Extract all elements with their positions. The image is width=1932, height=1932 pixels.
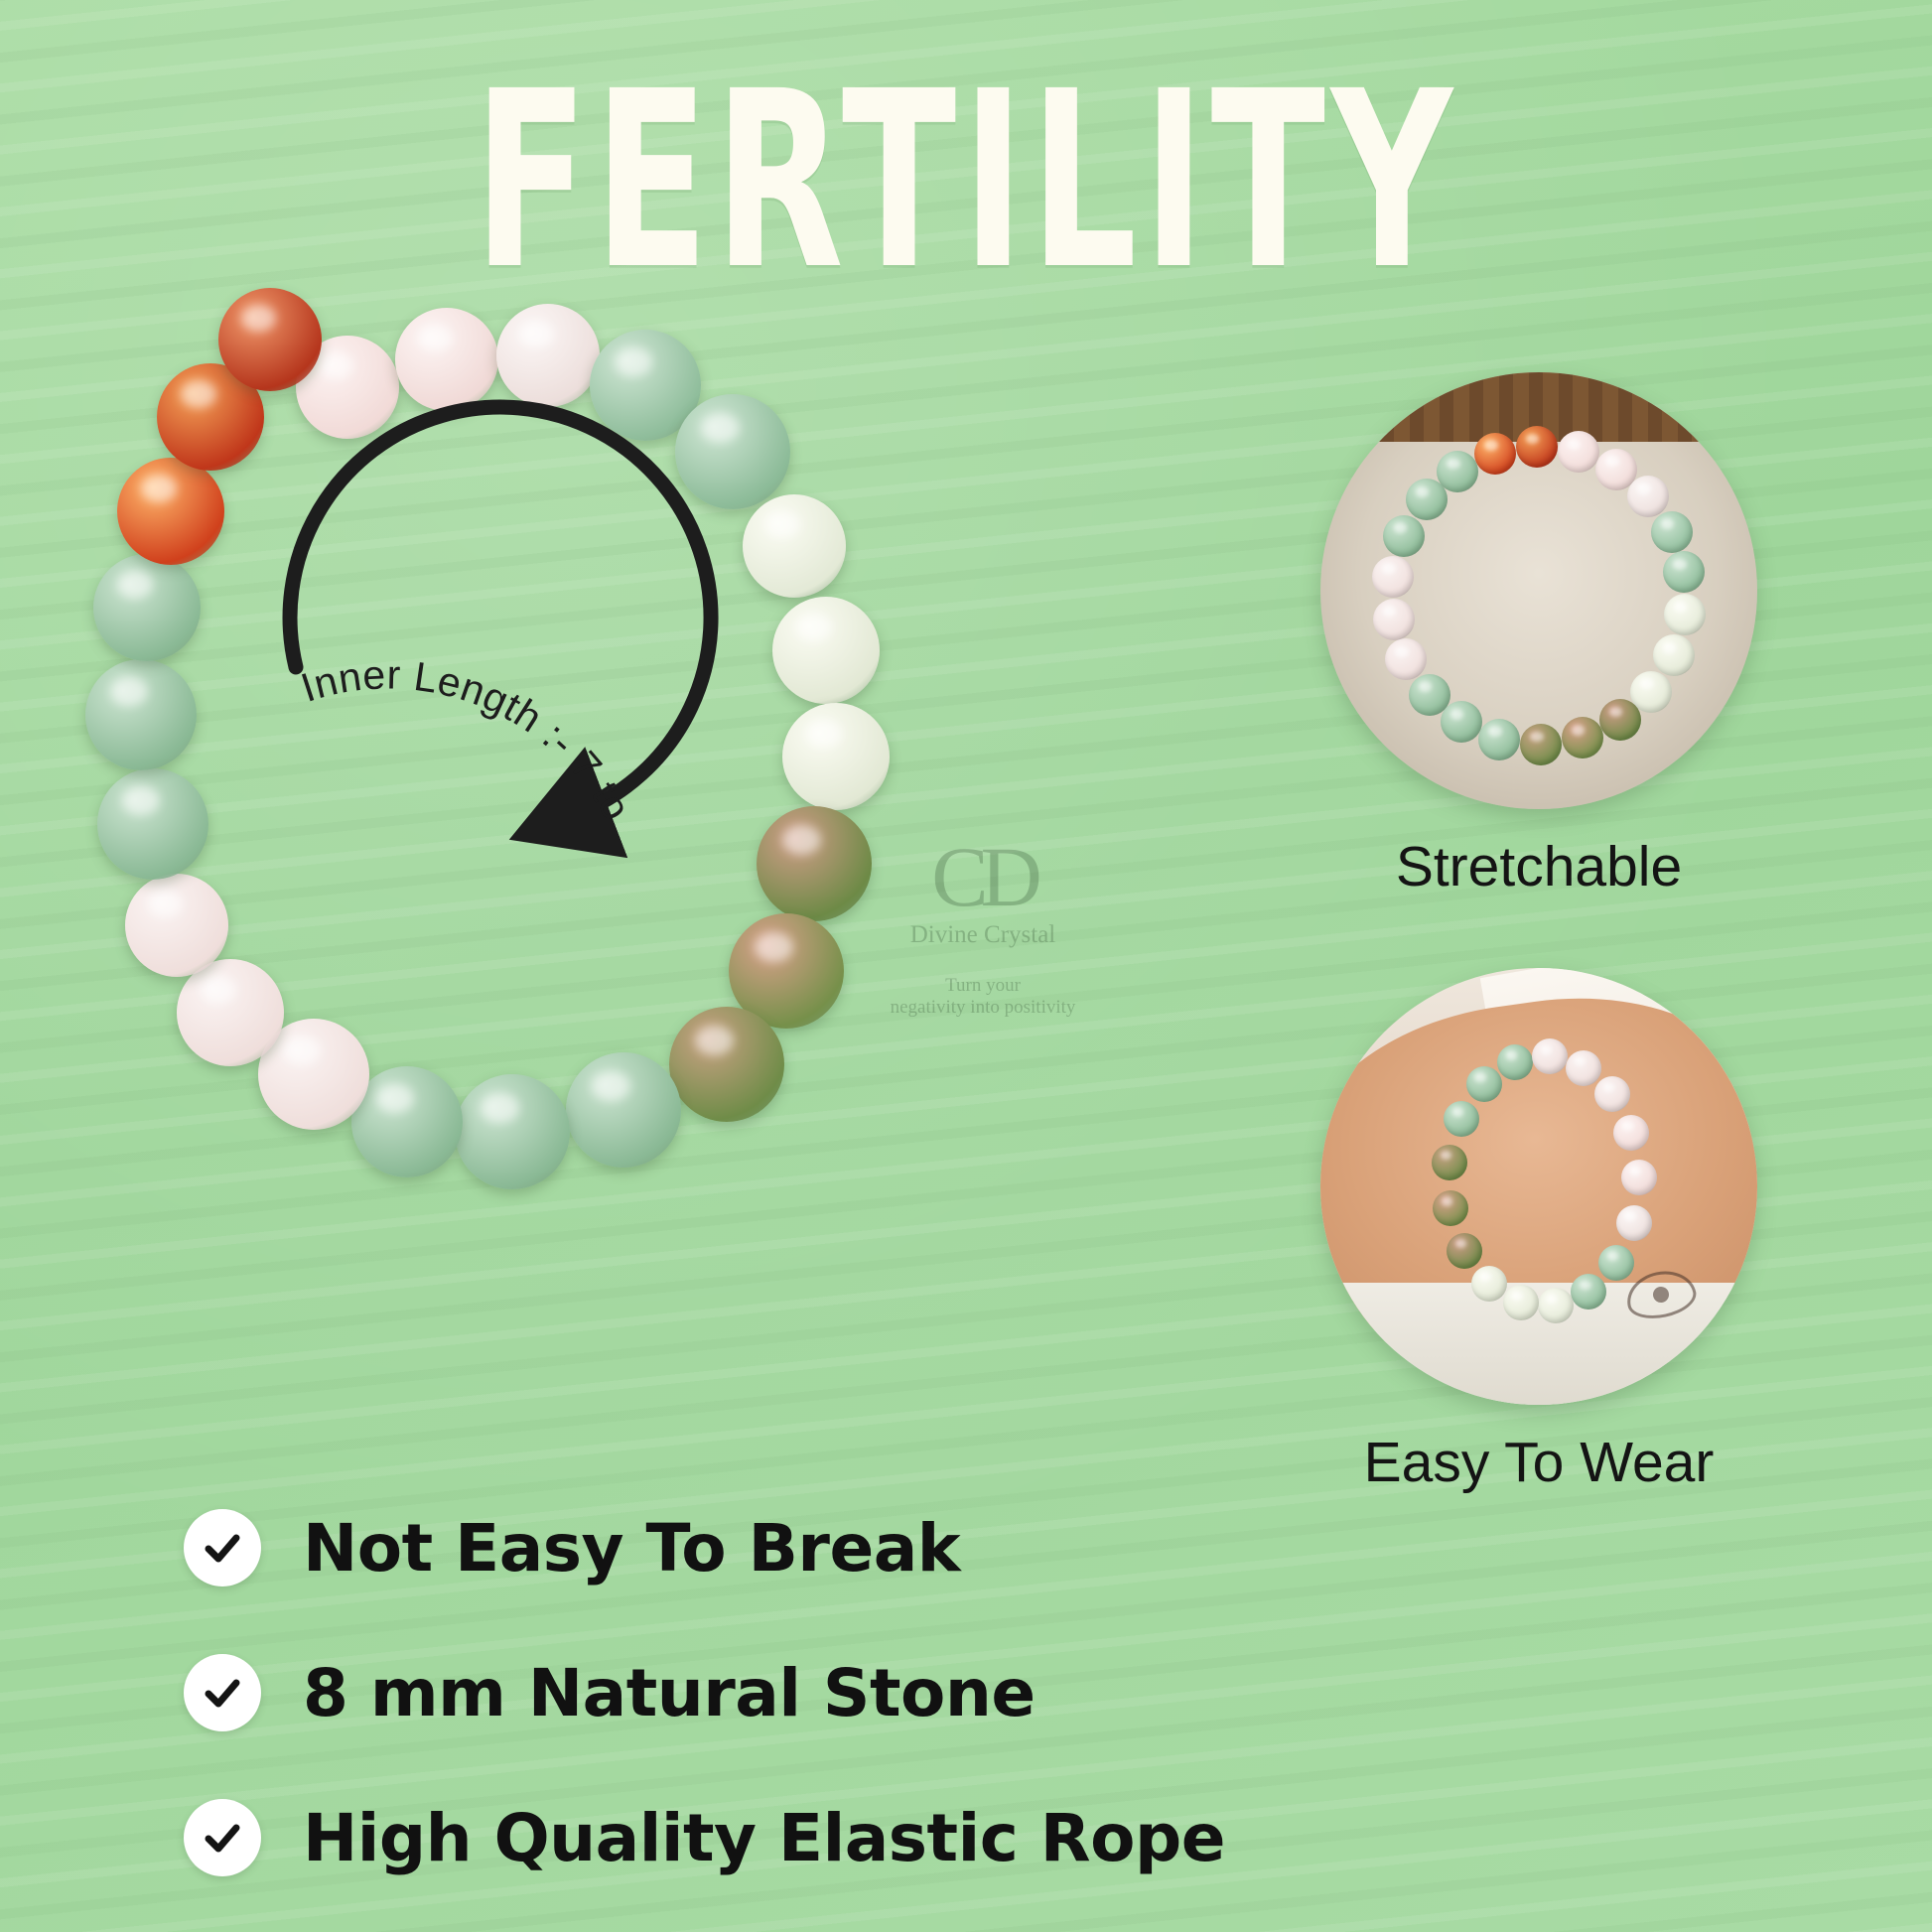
bead-rose-quartz <box>1558 431 1599 473</box>
bead-green-aventurine <box>1437 451 1478 492</box>
bead-carnelian <box>1474 433 1516 475</box>
photo-stretchable <box>1320 372 1757 809</box>
bead-unakite <box>1433 1190 1468 1226</box>
length-arrow-icon <box>248 377 764 894</box>
bead-rose-quartz <box>177 959 284 1066</box>
feature-label: 8 mm Natural Stone <box>303 1655 1035 1731</box>
bead-rose-quartz <box>1372 556 1414 598</box>
bead-green-aventurine <box>1383 515 1425 557</box>
bead-green-aventurine <box>93 554 201 661</box>
bead-carnelian <box>117 458 224 565</box>
bead-carnelian <box>218 288 322 391</box>
bead-green-aventurine <box>1441 701 1482 743</box>
bead-green-aventurine <box>1663 551 1705 593</box>
bead-rose-quartz <box>1621 1160 1657 1195</box>
bead-green-aventurine <box>1497 1044 1533 1080</box>
bead-unakite <box>757 806 872 921</box>
bead-green-aventurine <box>1478 719 1520 760</box>
caption-easy-to-wear: Easy To Wear <box>1281 1430 1797 1495</box>
bead-rose-quartz <box>1385 638 1427 680</box>
bead-green-aventurine <box>1598 1245 1634 1281</box>
bead-rose-quartz <box>1566 1050 1601 1086</box>
feature-list: Not Easy To Break 8 mm Natural Stone Hig… <box>184 1509 1375 1932</box>
bead-rose-quartz <box>1594 1076 1630 1112</box>
bead-white-jade <box>1503 1285 1539 1320</box>
bead-green-aventurine <box>1409 674 1450 716</box>
watermark-tagline-1: Turn your <box>874 975 1092 997</box>
bead-green-aventurine <box>1466 1066 1502 1102</box>
watermark-tagline-2: negativity into positivity <box>874 997 1092 1019</box>
bead-green-aventurine <box>85 659 197 770</box>
caption-stretchable: Stretchable <box>1281 834 1797 899</box>
bead-green-aventurine <box>1651 511 1693 553</box>
bead-white-jade <box>1653 634 1695 676</box>
bead-rose-quartz <box>125 874 228 977</box>
poster: FERTILITY Inner Length :- 7 to 7.5 inch … <box>0 0 1932 1932</box>
feature-item: Not Easy To Break <box>184 1509 1375 1587</box>
bead-unakite <box>1520 724 1562 765</box>
bead-white-jade <box>772 597 880 704</box>
bead-white-jade <box>1664 594 1706 635</box>
photo-easy-to-wear <box>1320 968 1757 1405</box>
watermark-logo: CD <box>874 834 1092 919</box>
bead-rose-quartz <box>1373 599 1415 640</box>
feature-label: High Quality Elastic Rope <box>303 1800 1225 1876</box>
bead-green-aventurine <box>455 1074 570 1189</box>
bead-unakite <box>669 1007 784 1122</box>
watermark-brand: Divine Crystal <box>874 921 1092 949</box>
bead-carnelian <box>1516 426 1558 468</box>
bead-green-aventurine <box>566 1052 681 1168</box>
feature-item: High Quality Elastic Rope <box>184 1799 1375 1876</box>
bead-unakite <box>1562 717 1603 759</box>
feature-item: 8 mm Natural Stone <box>184 1654 1375 1731</box>
check-icon <box>184 1799 261 1876</box>
bead-white-jade <box>1538 1288 1574 1323</box>
watermark: CD Divine Crystal Turn your negativity i… <box>874 834 1092 1052</box>
bead-unakite <box>1432 1145 1467 1180</box>
feature-label: Not Easy To Break <box>303 1510 960 1587</box>
bead-unakite <box>1599 699 1641 741</box>
bead-rose-quartz <box>1616 1205 1652 1241</box>
check-icon <box>184 1654 261 1731</box>
bead-rose-quartz <box>1532 1038 1568 1074</box>
bead-rose-quartz <box>1627 476 1669 517</box>
bead-white-jade <box>1471 1266 1507 1302</box>
bead-white-jade <box>782 703 890 810</box>
page-title: FERTILITY <box>49 60 1884 304</box>
bead-unakite <box>1447 1233 1482 1269</box>
bead-green-aventurine <box>1444 1101 1479 1137</box>
bead-green-aventurine <box>97 768 208 880</box>
check-icon <box>184 1509 261 1587</box>
